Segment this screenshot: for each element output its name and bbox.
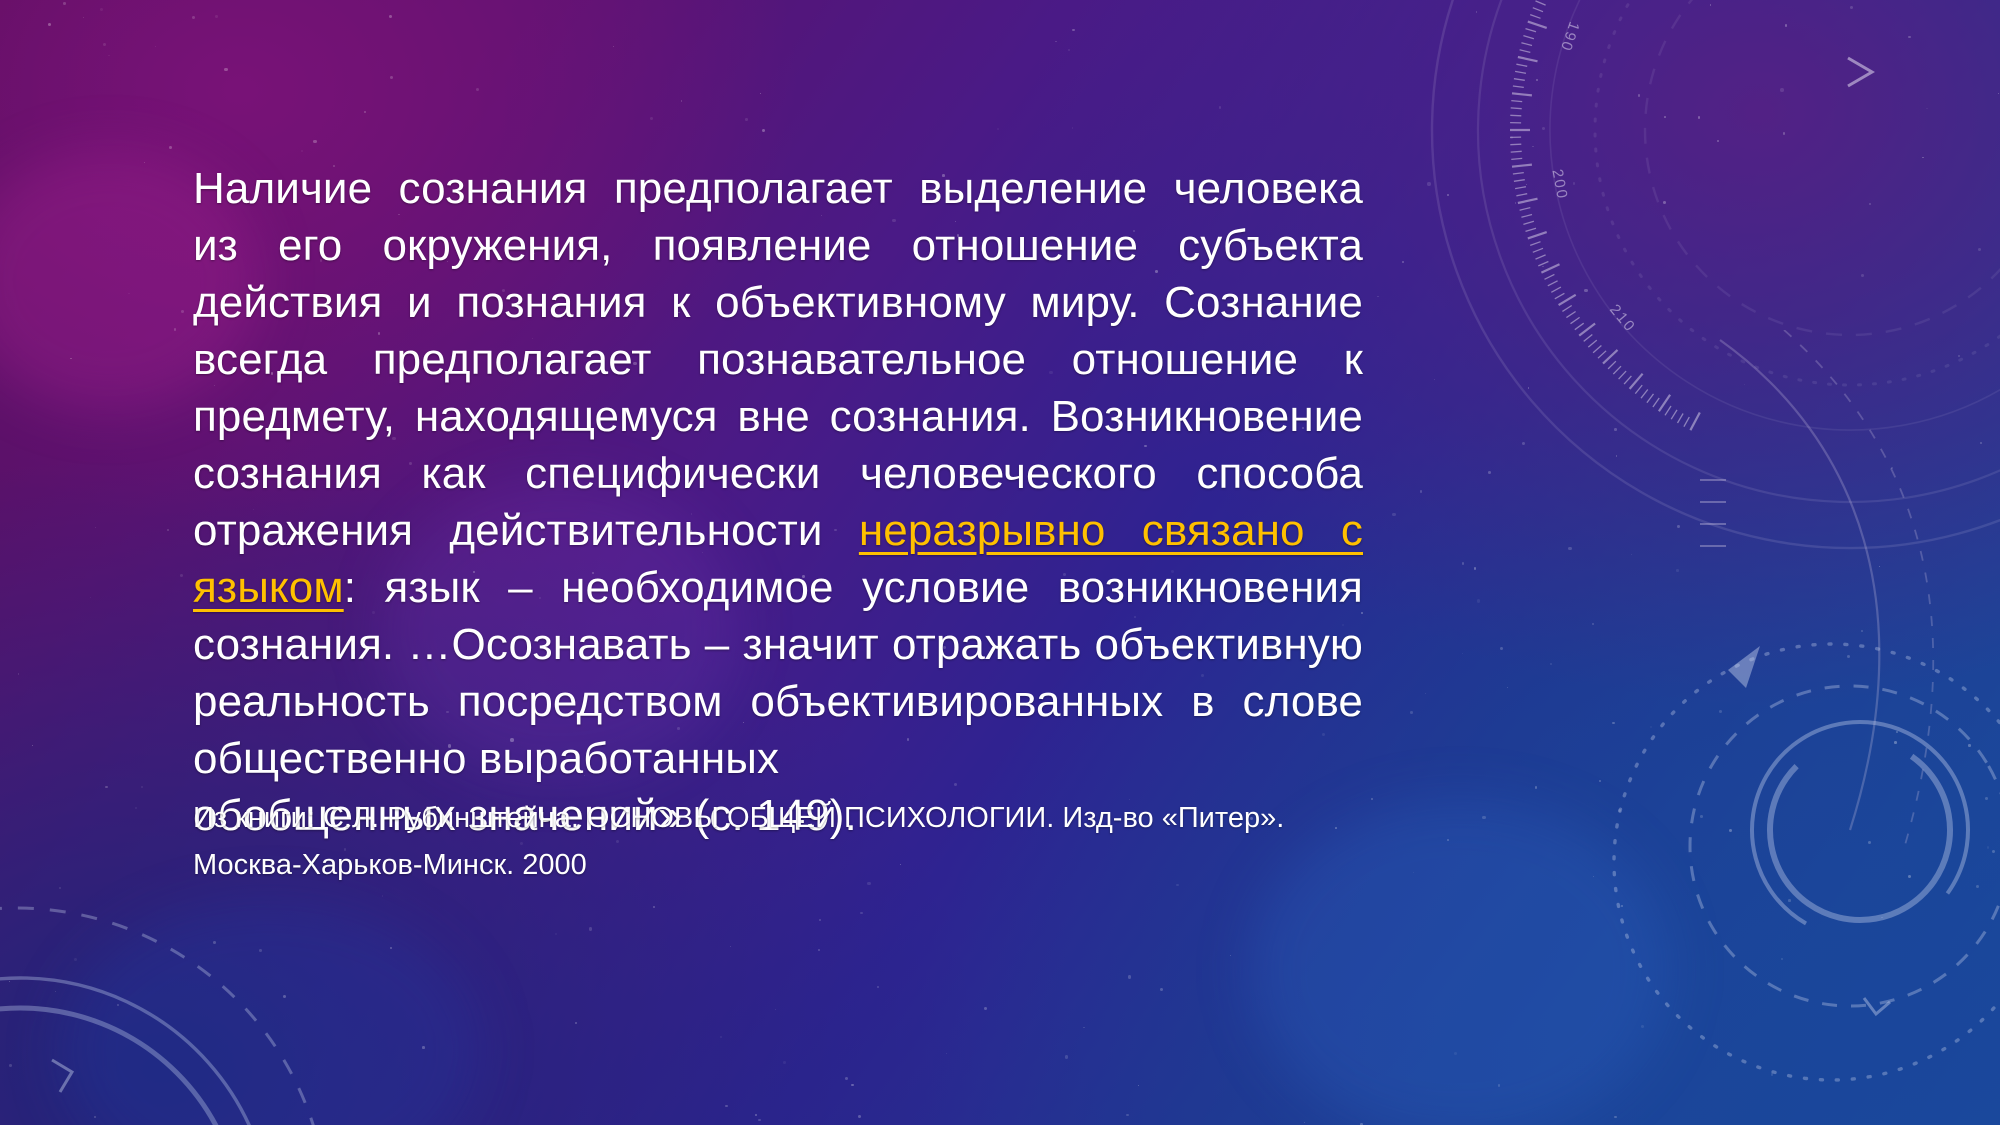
source-line-1: Из книги: С.Л. Рубинштейна. ОСНОВЫ ОБЩЕЙ…: [193, 795, 1393, 842]
svg-text:200: 200: [1548, 168, 1570, 202]
source-citation: Из книги: С.Л. Рубинштейна. ОСНОВЫ ОБЩЕЙ…: [193, 795, 1393, 889]
svg-text:190: 190: [1557, 20, 1583, 55]
quote-paragraph: Наличие сознания предполагает выделение …: [193, 160, 1363, 844]
right-arc-decoration: [1700, 330, 2000, 850]
content-area: Наличие сознания предполагает выделение …: [193, 0, 1363, 1125]
source-line-2: Москва-Харьков-Минск. 2000: [193, 842, 1393, 889]
quote-part-one: Наличие сознания предполагает выделение …: [193, 164, 1363, 555]
quote-part-two: : язык – необходимое условие возникновен…: [193, 563, 1363, 783]
slide-canvas: 160170180190200210: [0, 0, 2000, 1125]
bottom-right-rings-decoration: [1560, 600, 2000, 1120]
compass-dial-decoration: 160170180190200210: [1380, 0, 2000, 600]
svg-text:210: 210: [1606, 301, 1639, 336]
